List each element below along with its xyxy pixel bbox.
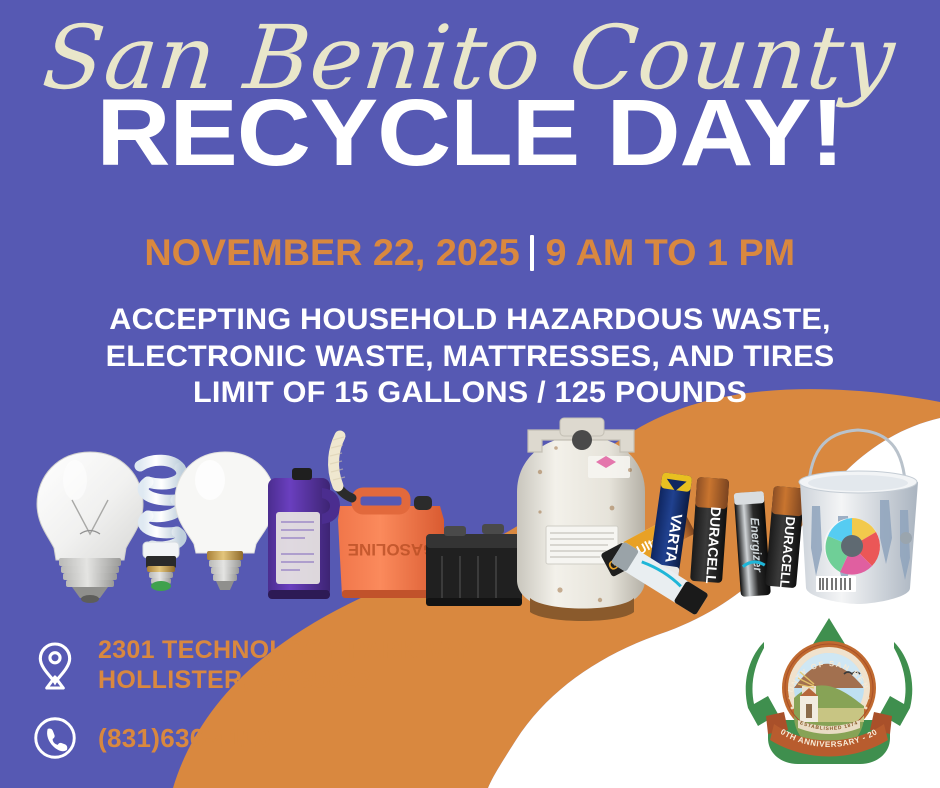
- event-datetime-row: NOVEMBER 22, 2025 9 AM TO 1 PM: [0, 232, 940, 274]
- contact-block: 2301 TECHNOLOGY PARKWAY HOLLISTER, CA 95…: [28, 636, 474, 777]
- location-pin-icon: [28, 637, 82, 695]
- address-line-1: 2301 TECHNOLOGY PARKWAY: [98, 636, 474, 664]
- accepted-materials-line-2: ELECTRONIC WASTE, MATTRESSES, AND TIRES: [0, 339, 940, 376]
- address-line-2: HOLLISTER, CA 95023: [98, 666, 371, 694]
- recycle-day-flyer: San Benito County RECYCLE DAY! NOVEMBER …: [0, 0, 940, 788]
- address-text: 2301 TECHNOLOGY PARKWAY HOLLISTER, CA 95…: [98, 636, 474, 695]
- page-title: RECYCLE DAY!: [0, 90, 940, 177]
- phone-icon: [28, 709, 82, 767]
- event-time: 9 AM TO 1 PM: [545, 232, 795, 274]
- accepted-materials-line-1: ACCEPTING HOUSEHOLD HAZARDOUS WASTE,: [0, 302, 940, 339]
- accepted-materials-block: ACCEPTING HOUSEHOLD HAZARDOUS WASTE, ELE…: [0, 302, 940, 412]
- event-date: NOVEMBER 22, 2025: [144, 232, 519, 274]
- header-block: San Benito County RECYCLE DAY!: [0, 0, 940, 177]
- phone-row: (831)636-4110: [28, 709, 474, 767]
- phone-number: (831)636-4110: [98, 723, 271, 754]
- accepted-materials-line-3: LIMIT OF 15 GALLONS / 125 POUNDS: [0, 375, 940, 412]
- address-row: 2301 TECHNOLOGY PARKWAY HOLLISTER, CA 95…: [28, 636, 474, 695]
- county-seal-recycle-logo: COUNTY OF SAN BENITO ESTABLISHED 1874: [744, 612, 914, 772]
- county-seal: COUNTY OF SAN BENITO ESTABLISHED 1874: [744, 612, 892, 757]
- datetime-divider: [530, 235, 534, 271]
